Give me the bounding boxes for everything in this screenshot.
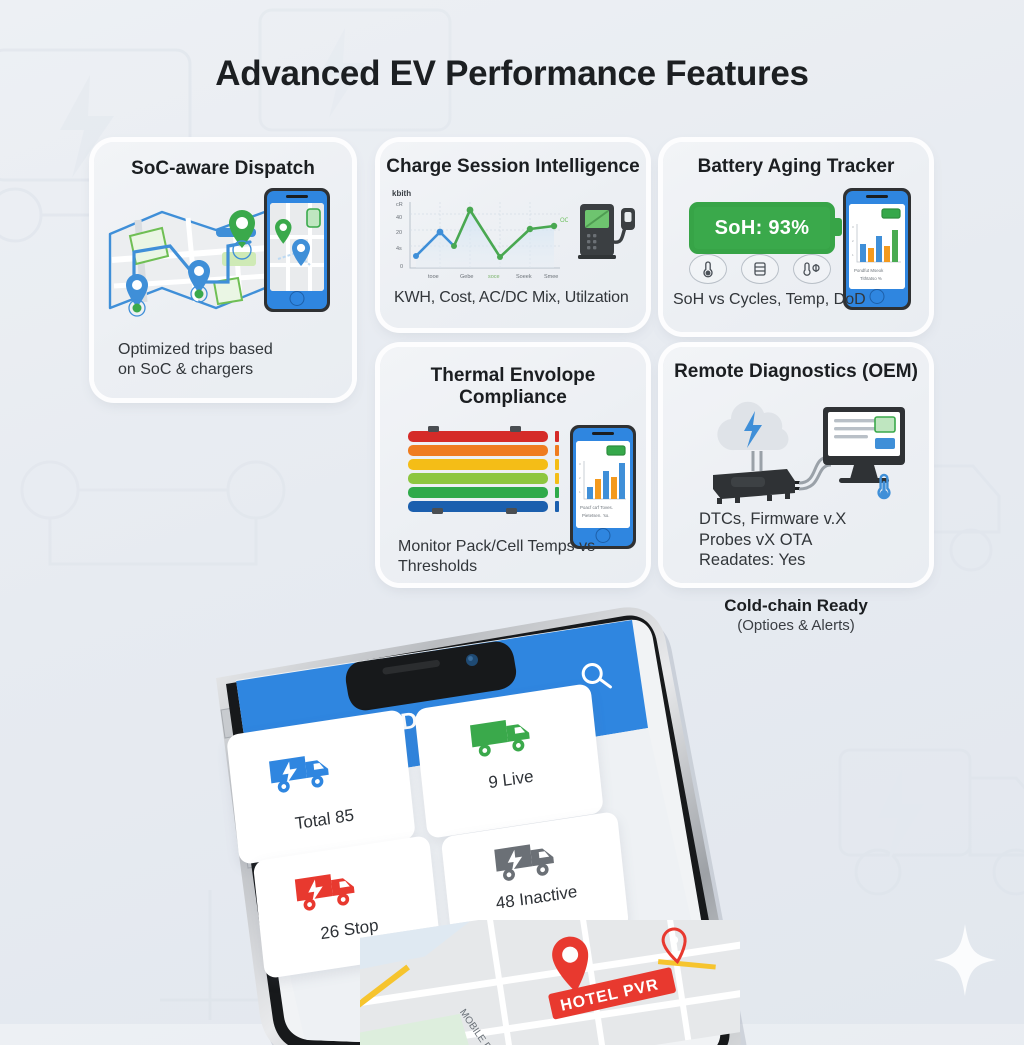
card-remote-subtitle-line1: DTCs, Firmware v.X xyxy=(699,509,846,530)
phone-speaker xyxy=(866,195,888,198)
card-soc-aware-dispatch[interactable]: SoC-aware Dispatch xyxy=(94,142,352,398)
card-soc-subtitle-line1: Optimized trips based xyxy=(118,340,273,360)
card-battery-aging-tracker[interactable]: Battery Aging Tracker SoH: 93% xyxy=(663,142,929,332)
card-remote-diagnostics[interactable]: Remote Diagnostics (OEM) xyxy=(663,347,929,583)
ev-truck-icon xyxy=(467,710,535,768)
svg-text:Poacf ca'f Toves.: Poacf ca'f Toves. xyxy=(580,505,613,510)
tile-total-label: Total 85 xyxy=(235,797,413,844)
thermometer-icon[interactable] xyxy=(689,254,727,284)
card-charge-subtitle: KWH, Cost, AC/DC Mix, Utilzation xyxy=(394,288,629,308)
battery-metric-chips xyxy=(689,254,831,284)
svg-text:kbith: kbith xyxy=(392,189,411,198)
phone-home-button xyxy=(290,291,305,306)
card-charge-session-intelligence[interactable]: Charge Session Intelligence kbith cR40 2… xyxy=(380,142,646,328)
phone-mockup[interactable]: DASHBOARD xyxy=(120,600,740,1040)
card-thermal-envelope-compliance[interactable]: Thermal Envolope Compliance xyxy=(380,347,646,583)
soc-mini-phone xyxy=(264,188,330,312)
svg-text:Smee: Smee xyxy=(544,274,558,280)
svg-text:4s: 4s xyxy=(396,246,402,252)
card-thermal-subtitle-line2: Thresholds xyxy=(398,557,595,577)
card-remote-subtitle-line2: Probes vX OTA xyxy=(699,530,846,551)
ev-truck-icon xyxy=(292,864,360,922)
svg-text:Pondfut Mseok: Pondfut Mseok xyxy=(854,268,884,273)
dashboard-map[interactable]: MOBILE FPA HOTEL PVR xyxy=(360,920,740,1045)
watermark-truck-bolt-glyph xyxy=(830,620,1024,920)
svg-text:cR: cR xyxy=(396,202,403,208)
tile-live[interactable]: 9 Live xyxy=(414,683,604,839)
phone-speaker xyxy=(592,432,614,435)
watermark-node-glyph xyxy=(0,420,330,590)
phone-home-button xyxy=(596,528,611,543)
thermal-mini-phone: 321 Poacf ca'f Toves.Pietetsen. 'so. xyxy=(570,425,636,549)
card-charge-title: Charge Session Intelligence xyxy=(380,142,646,178)
card-remote-title: Remote Diagnostics (OEM) xyxy=(663,347,929,383)
card-remote-subtitle: DTCs, Firmware v.X Probes vX OTA Readate… xyxy=(699,509,846,571)
card-soc-subtitle: Optimized trips based on SoC & chargers xyxy=(118,340,273,380)
svg-text:Tithtatso %: Tithtatso % xyxy=(860,276,882,281)
soh-badge: SoH: 93% xyxy=(689,202,835,254)
ev-truck-icon xyxy=(266,746,334,804)
watermark-sparkle-icon xyxy=(930,920,1000,1000)
card-soc-title: SoC-aware Dispatch xyxy=(94,142,352,180)
svg-text:Gebe: Gebe xyxy=(460,274,473,280)
ev-truck-icon xyxy=(492,834,560,892)
thermal-threshold-ticks xyxy=(555,431,561,515)
tile-live-label: 9 Live xyxy=(422,757,600,804)
svg-text:soce: soce xyxy=(488,274,500,280)
card-remote-subtitle-line3: Readates: Yes xyxy=(699,550,846,571)
thermal-pack-stack xyxy=(408,431,548,515)
battery-cell-icon[interactable] xyxy=(741,254,779,284)
phone-speaker xyxy=(286,195,308,198)
svg-text:OOMix: OOMix xyxy=(560,218,568,224)
card-thermal-subtitle: Monitor Pack/Cell Temps vs Thresholds xyxy=(398,537,595,577)
svg-text:Soeek: Soeek xyxy=(516,274,532,280)
gauge-icon[interactable] xyxy=(793,254,831,284)
card-thermal-title-line1: Thermal Envolope xyxy=(380,365,646,387)
svg-text:Pietetsen. 'so.: Pietetsen. 'so. xyxy=(582,513,609,518)
card-battery-subtitle: SoH vs Cycles, Temp, DoD xyxy=(673,290,866,310)
card-soc-subtitle-line2: on SoC & chargers xyxy=(118,360,273,380)
page-title: Advanced EV Performance Features xyxy=(0,54,1024,94)
card-battery-title: Battery Aging Tracker xyxy=(663,142,929,178)
svg-text:0: 0 xyxy=(400,264,403,270)
remote-diagnostics-illustration xyxy=(691,389,906,514)
card-thermal-subtitle-line1: Monitor Pack/Cell Temps vs xyxy=(398,537,595,557)
soh-value: SoH: 93% xyxy=(715,217,810,240)
svg-text:20: 20 xyxy=(396,230,402,236)
card-thermal-title: Thermal Envolope Compliance xyxy=(380,347,646,409)
charge-session-line-chart: kbith cR40 204s0 xyxy=(388,184,568,284)
svg-text:tooe: tooe xyxy=(428,274,439,280)
card-thermal-title-line2: Compliance xyxy=(380,387,646,409)
phone-home-button xyxy=(870,289,885,304)
ev-charging-station-icon xyxy=(576,198,640,271)
svg-text:40: 40 xyxy=(396,215,402,221)
